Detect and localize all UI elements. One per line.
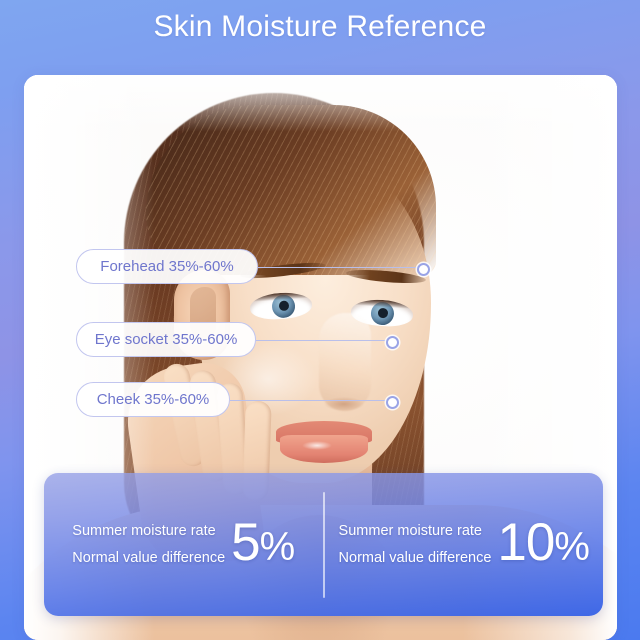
eye-socket-marker-icon [386,336,399,349]
cheek-marker-icon [386,396,399,409]
lip-highlight [302,441,332,450]
stat-number-right: 10 [497,513,554,572]
stat-label-normal-diff-left: Normal value difference [72,545,225,572]
stat-label-normal-diff-right: Normal value difference [339,545,492,572]
stat-labels-right: Summer moisture rate Normal value differ… [339,518,492,572]
skin-moisture-reference-page: Skin Moisture Reference [0,0,640,640]
forehead-marker-icon [417,263,430,276]
stat-label-summer-rate-right: Summer moisture rate [339,518,492,545]
moisture-stats-panel: Summer moisture rate Normal value differ… [44,473,603,616]
leader-line-eye-socket [256,340,389,341]
stat-label-summer-rate-left: Summer moisture rate [72,518,225,545]
callout-pill-cheek[interactable]: Cheek 35%-60% [76,382,230,417]
stat-unit-right: % [554,525,589,569]
page-title: Skin Moisture Reference [0,3,640,51]
callout-pill-eye-socket[interactable]: Eye socket 35%-60% [76,322,256,357]
stat-labels-left: Summer moisture rate Normal value differ… [72,518,225,572]
stat-value-left: 5% [231,516,294,574]
leader-line-cheek [230,400,390,401]
stat-column-summer-5: Summer moisture rate Normal value differ… [44,516,323,574]
stat-unit-left: % [260,525,295,569]
stat-value-right: 10% [497,516,589,574]
leader-line-forehead [258,267,420,268]
stat-number-left: 5 [231,513,259,572]
callout-pill-forehead[interactable]: Forehead 35%-60% [76,249,258,284]
stat-column-summer-10: Summer moisture rate Normal value differ… [325,516,604,574]
